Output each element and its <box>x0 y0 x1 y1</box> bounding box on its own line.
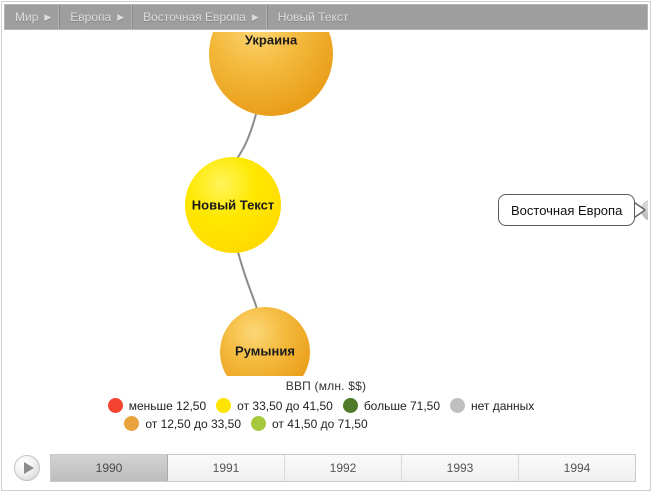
chevron-right-icon: ▶ <box>44 13 51 22</box>
breadcrumb-label: Европа <box>70 10 111 24</box>
legend-swatch-orange <box>124 416 139 431</box>
legend-label: от 33,50 до 41,50 <box>237 399 333 413</box>
edge-ukraine-to-new-text <box>236 114 256 160</box>
legend-row: от 12,50 до 33,50 от 41,50 до 71,50 <box>124 416 377 431</box>
breadcrumb-item-europe[interactable]: Европа ▶ <box>60 5 133 29</box>
timeline-track[interactable]: 1990 1991 1992 1993 1994 <box>50 454 636 482</box>
chevron-right-icon: ▶ <box>117 13 124 22</box>
legend-swatch-dark-green <box>343 398 358 413</box>
legend-item-less-than[interactable]: меньше 12,50 <box>108 398 212 413</box>
breadcrumb-item-current[interactable]: Новый Текст <box>268 5 647 29</box>
legend: ВВП (млн. $$) меньше 12,50 от 33,50 до 4… <box>4 379 648 441</box>
legend-item-high[interactable]: от 41,50 до 71,50 <box>251 416 374 431</box>
legend-label: нет данных <box>471 399 534 413</box>
breadcrumb-label: Новый Текст <box>278 10 349 24</box>
timeline-year-1992[interactable]: 1992 <box>285 455 402 481</box>
legend-label: от 41,50 до 71,50 <box>272 417 368 431</box>
breadcrumb-label: Восточная Европа <box>143 10 246 24</box>
bubble-node-new-text[interactable]: Новый Текст <box>185 157 281 253</box>
legend-swatch-light-green <box>251 416 266 431</box>
legend-swatch-yellow <box>216 398 231 413</box>
edge-new-text-to-romania <box>238 252 257 309</box>
bubble-node-ukraine[interactable]: Украина <box>209 32 333 116</box>
legend-swatch-gray <box>450 398 465 413</box>
breadcrumb: Мир ▶ Европа ▶ Восточная Европа ▶ Новый … <box>4 4 648 30</box>
legend-label: меньше 12,50 <box>129 399 206 413</box>
legend-item-no-data[interactable]: нет данных <box>450 398 540 413</box>
chart-application: Мир ▶ Европа ▶ Восточная Европа ▶ Новый … <box>0 0 652 492</box>
timeline-year-1991[interactable]: 1991 <box>168 455 285 481</box>
legend-item-greater-than[interactable]: больше 71,50 <box>343 398 446 413</box>
legend-title: ВВП (млн. $$) <box>4 379 648 393</box>
legend-label: больше 71,50 <box>364 399 440 413</box>
timeline-year-1994[interactable]: 1994 <box>519 455 635 481</box>
breadcrumb-item-eastern-europe[interactable]: Восточная Европа ▶ <box>133 5 268 29</box>
legend-label: от 12,50 до 33,50 <box>145 417 241 431</box>
breadcrumb-label: Мир <box>15 10 38 24</box>
bubble-node-romania[interactable]: Румыния <box>220 307 310 376</box>
timeline-year-1990[interactable]: 1990 <box>51 455 168 481</box>
legend-item-mid-high[interactable]: от 33,50 до 41,50 <box>216 398 339 413</box>
timeline-year-1993[interactable]: 1993 <box>402 455 519 481</box>
play-icon[interactable] <box>14 455 40 481</box>
breadcrumb-item-world[interactable]: Мир ▶ <box>5 5 60 29</box>
legend-item-low-mid[interactable]: от 12,50 до 33,50 <box>124 416 247 431</box>
callout-tooltip[interactable]: Восточная Европа <box>498 194 635 226</box>
legend-swatch-red <box>108 398 123 413</box>
timeline: 1990 1991 1992 1993 1994 <box>4 448 648 488</box>
callout-label: Восточная Европа <box>511 203 622 218</box>
legend-row: меньше 12,50 от 33,50 до 41,50 больше 71… <box>108 398 545 413</box>
chevron-right-icon: ▶ <box>252 13 259 22</box>
